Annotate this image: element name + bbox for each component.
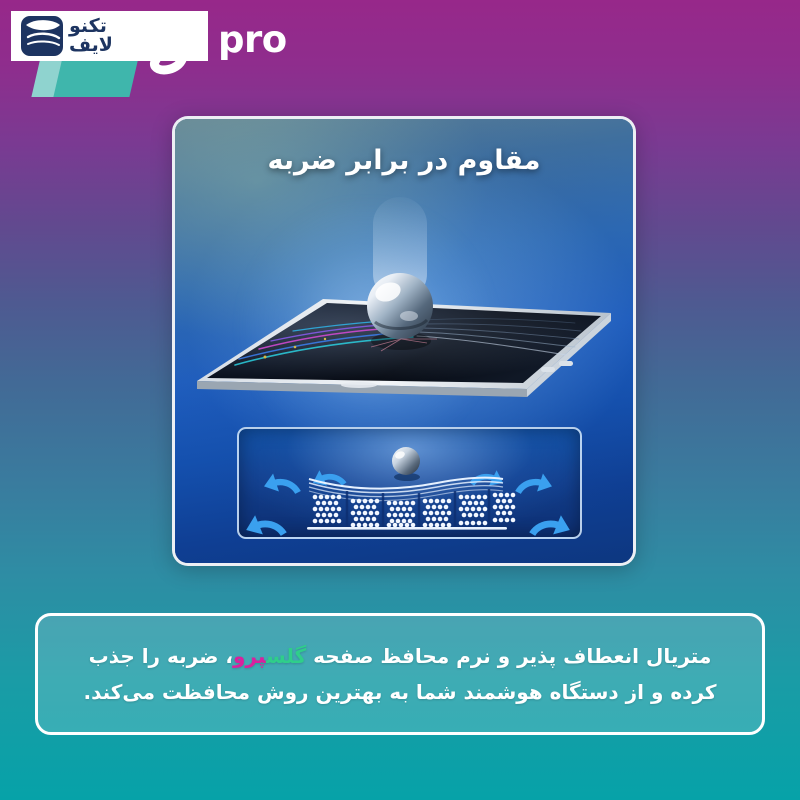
energy-arrow-left-upper [261, 467, 301, 502]
diagram-steel-ball [392, 447, 420, 481]
logo-text: تکنو لایف [69, 17, 113, 54]
energy-arrow-right-upper [515, 467, 555, 502]
brand-word-glass: گلس [266, 644, 306, 668]
steel-ball-tablet-scene [175, 189, 636, 409]
brand-zone: pro تکنو لایف [0, 0, 320, 110]
diagram-graphics [237, 429, 580, 539]
logo-line-life: لایف [69, 36, 113, 55]
side-button-a [541, 367, 555, 372]
energy-arrow-right-lower [529, 507, 574, 539]
product-banner: pro تکنو لایف مقاوم در برابر ضربه [0, 0, 800, 800]
pro-wordmark: pro [218, 18, 287, 61]
steel-ball [367, 273, 433, 350]
description-part-1: متریال انعطاف پذیر و نرم محافظ صفحه [306, 644, 711, 668]
device-surface-line [307, 527, 507, 530]
side-button-b [559, 361, 573, 366]
description-panel: متریال انعطاف پذیر و نرم محافظ صفحه گلسپ… [35, 613, 765, 735]
brand-word-pro: پرو [233, 644, 266, 668]
technolife-logo[interactable]: تکنو لایف [11, 11, 208, 61]
product-image-card: مقاوم در برابر ضربه [172, 116, 636, 566]
card-headline: مقاوم در برابر ضربه [175, 145, 633, 176]
technolife-eye-mark-icon [19, 14, 65, 58]
energy-arrow-left-lower [242, 507, 287, 539]
shock-absorption-diagram [237, 427, 582, 539]
description-text: متریال انعطاف پذیر و نرم محافظ صفحه گلسپ… [64, 638, 736, 711]
home-indicator [341, 382, 377, 388]
